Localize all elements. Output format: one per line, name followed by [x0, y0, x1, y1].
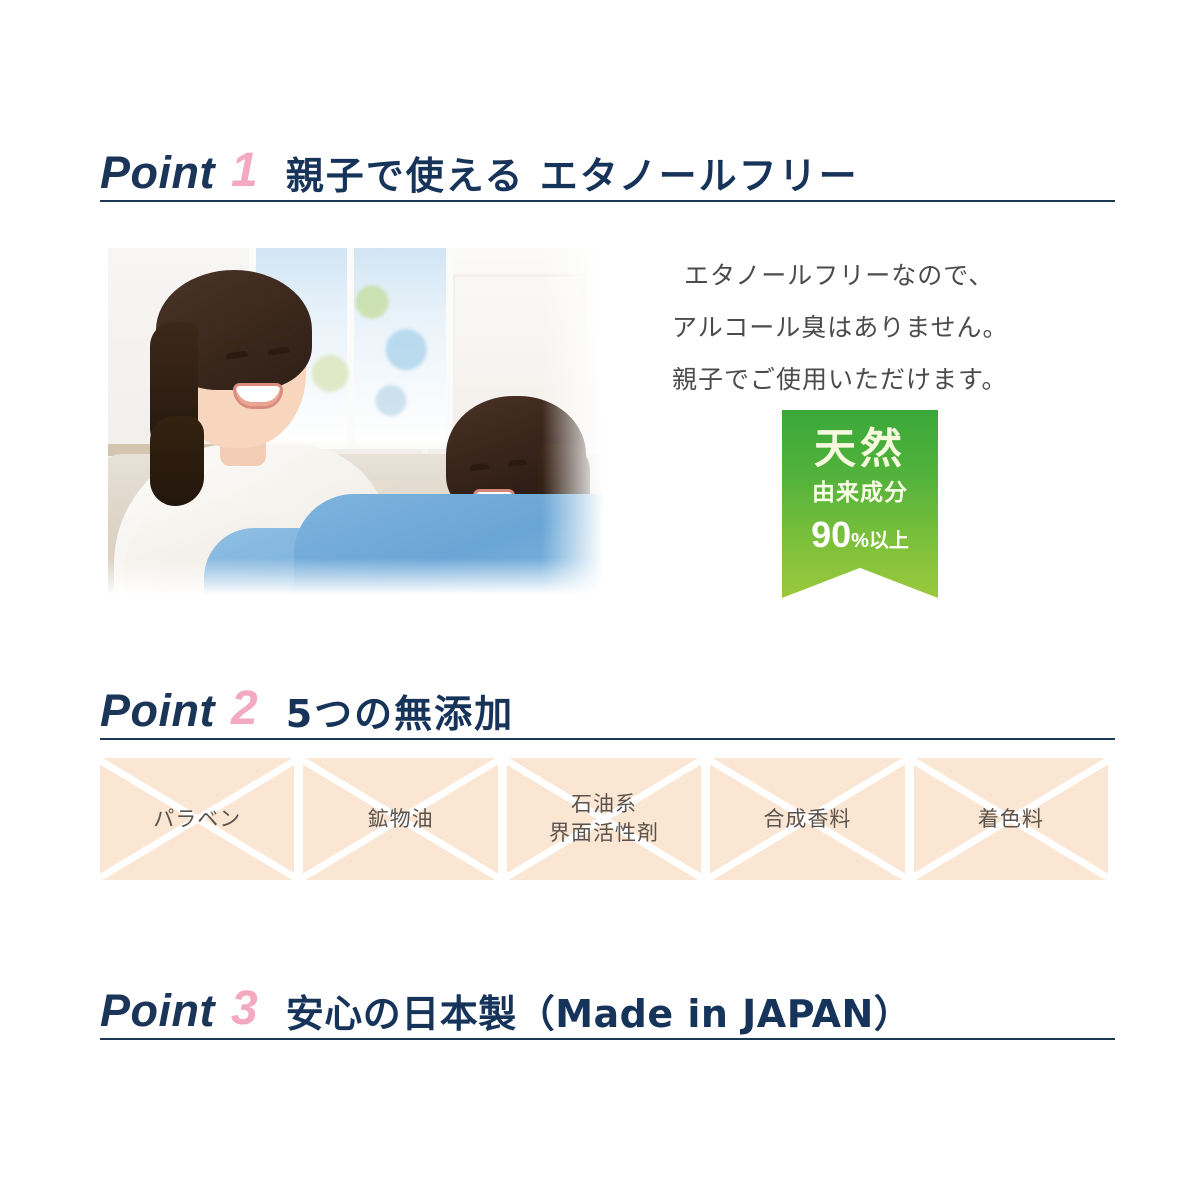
point-3-heading: Point 3 安心の日本製（Made in JAPAN） — [100, 968, 1115, 1040]
badge-subline: 由来成分 — [782, 482, 938, 505]
free-from-box-list: パラベン 鉱物油 石油系 界面活性剤 合成香料 着色料 — [100, 758, 1108, 880]
point-2-title: 5つの無添加 — [286, 695, 514, 733]
free-from-label: パラベン — [153, 805, 241, 834]
point-1-number: 1 — [231, 147, 258, 195]
point-1-label: Point — [100, 150, 215, 195]
badge-percent-sign: % — [851, 530, 869, 552]
description-line-2: アルコール臭はありません。 — [672, 302, 1072, 354]
free-from-box: 合成香料 — [710, 758, 904, 880]
point-3-label: Point — [100, 988, 215, 1033]
photo-fade-right — [542, 248, 612, 598]
point-2-heading: Point 2 5つの無添加 — [100, 668, 1115, 740]
point-1-title: 親子で使える エタノールフリー — [286, 157, 859, 195]
free-from-label: 石油系 界面活性剤 — [549, 790, 659, 848]
photo-mother-ponytail — [150, 416, 204, 506]
free-from-box: パラベン — [100, 758, 294, 880]
family-photo — [108, 248, 612, 598]
free-from-label: 鉱物油 — [368, 805, 434, 834]
badge-number: 90 — [811, 514, 851, 555]
badge-percentage: 90%以上 — [782, 517, 938, 553]
free-from-label: 合成香料 — [763, 805, 851, 834]
free-from-label: 着色料 — [978, 805, 1044, 834]
point-3-number: 3 — [231, 985, 258, 1033]
point-1-description: エタノールフリーなので、 アルコール臭はありません。 親子でご使用いただけます。 — [672, 250, 1072, 406]
free-from-box: 着色料 — [914, 758, 1108, 880]
point-3-title: 安心の日本製（Made in JAPAN） — [286, 995, 913, 1033]
description-line-3: 親子でご使用いただけます。 — [672, 354, 1072, 406]
point-1-heading: Point 1 親子で使える エタノールフリー — [100, 130, 1115, 202]
point-2-number: 2 — [231, 685, 258, 733]
point-2-label: Point — [100, 688, 215, 733]
badge-headline: 天然 — [782, 410, 938, 470]
free-from-box: 石油系 界面活性剤 — [507, 758, 701, 880]
free-from-box: 鉱物油 — [303, 758, 497, 880]
description-line-1: エタノールフリーなので、 — [672, 250, 1072, 302]
infographic-page: Point 1 親子で使える エタノールフリー — [0, 0, 1200, 1200]
badge-suffix: 以上 — [869, 528, 909, 552]
natural-ingredients-badge: 天然 由来成分 90%以上 — [782, 410, 938, 598]
photo-fade-bottom — [108, 558, 612, 598]
